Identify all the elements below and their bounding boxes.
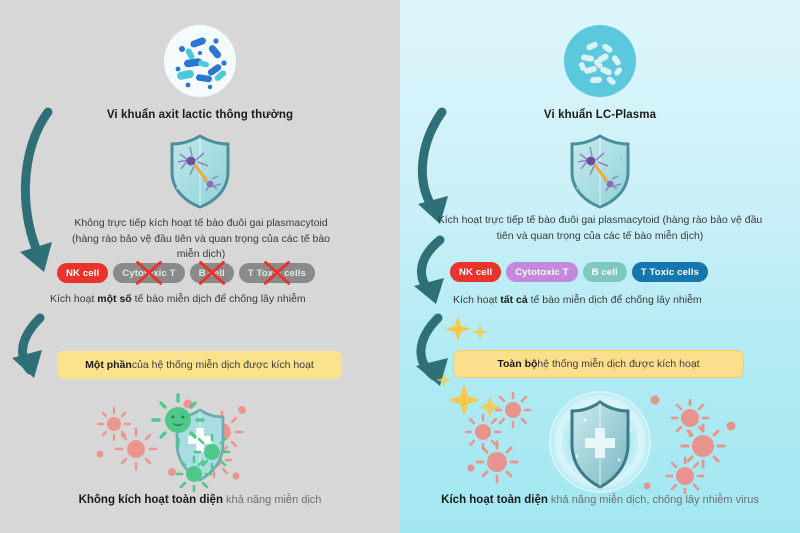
immune-cell-pill-row-left: NK cell Cytotoxic T B cell T Toxic cells [57, 263, 315, 283]
banner-emphasis: Một phần [85, 359, 132, 371]
immune-system-banner-left: Một phần của hệ thống miễn dịch được kíc… [57, 351, 342, 379]
page-title-right: Vi khuẩn LC-Plasma [400, 109, 800, 121]
immune-system-banner-right: Toàn bộ hệ thống miễn dịch được kích hoạ… [453, 350, 744, 378]
pill-t-toxic-cells[interactable]: T Toxic cells [632, 262, 708, 282]
caption-suffix: tế bào miễn dịch để chống lây nhiễm [528, 294, 702, 306]
shield-attacked-by-viruses-icon [70, 392, 330, 492]
activation-caption-left: Kích hoạt một số tế bào miễn dịch để chố… [50, 293, 306, 305]
virus-red [116, 429, 156, 469]
virus-red [682, 425, 724, 467]
virus-red [667, 458, 703, 494]
pill-b-cell[interactable]: B cell [583, 262, 627, 282]
immune-cell-pill-row-right: NK cell Cytotoxic T B cell T Toxic cells [450, 262, 708, 282]
caption-prefix: Kích hoạt [50, 293, 97, 305]
virus-red [98, 408, 130, 440]
shield-protected-glow-icon [435, 390, 765, 494]
shield-dendritic-cell-icon [564, 132, 636, 210]
pill-label: NK cell [459, 267, 492, 278]
footer-caption-right: Kích hoạt toàn diện khả năng miễn dịch, … [400, 494, 800, 506]
pill-label: B cell [592, 267, 618, 278]
bacteria-circle-icon [564, 25, 636, 97]
page-title-left: Vi khuẩn axit lactic thông thường [0, 109, 400, 121]
pill-cytotoxic-t[interactable]: Cytotoxic T [506, 262, 577, 282]
bacteria-circle-icon [164, 25, 236, 97]
description-right: Kích hoạt trực tiếp tế bào đuôi gai plas… [435, 213, 765, 244]
caption-suffix: tế bào miễn dịch để chống lây nhiễm [132, 293, 306, 305]
panel-lc-plasma-bacteria: Vi khuẩn LC-Plasma [400, 0, 800, 533]
infographic-canvas: Vi khuẩn axit lactic thông thường [0, 0, 800, 533]
pill-nk-cell[interactable]: NK cell [57, 263, 108, 283]
pill-cytotoxic-t[interactable]: Cytotoxic T [113, 263, 184, 283]
caption-emphasis: tất cả [500, 294, 527, 306]
pill-label: Cytotoxic T [515, 267, 568, 278]
pill-label: Cytotoxic T [122, 268, 175, 279]
panel-normal-lactic-bacteria: Vi khuẩn axit lactic thông thường [0, 0, 400, 533]
pill-b-cell[interactable]: B cell [190, 263, 234, 283]
pill-t-toxic-cells[interactable]: T Toxic cells [239, 263, 315, 283]
banner-rest: hệ thống miễn dịch được kích hoạt [537, 358, 699, 370]
virus-red [496, 393, 530, 427]
banner-emphasis: Toàn bộ [497, 358, 537, 370]
pill-label: B cell [199, 268, 225, 279]
footer-rest: khả năng miễn dịch [223, 494, 321, 506]
caption-prefix: Kích hoạt [453, 294, 500, 306]
pill-label: NK cell [66, 268, 99, 279]
footer-emphasis: Không kích hoạt toàn diện [79, 494, 223, 506]
description-left: Không trực tiếp kích hoạt tế bào đuôi ga… [60, 216, 342, 263]
pill-nk-cell[interactable]: NK cell [450, 262, 501, 282]
virus-red [477, 442, 517, 482]
footer-rest: khả năng miễn dịch, chống lây nhiễm viru… [548, 494, 759, 506]
pill-label: T Toxic cells [248, 268, 306, 279]
activation-caption-right: Kích hoạt tất cả tế bào miễn dịch để chố… [453, 294, 702, 306]
pill-label: T Toxic cells [641, 267, 699, 278]
caption-emphasis: một số [97, 293, 131, 305]
shield-dendritic-cell-icon [164, 132, 236, 210]
footer-caption-left: Không kích hoạt toàn diện khả năng miễn … [0, 494, 400, 506]
virus-red [466, 415, 500, 449]
banner-rest: của hệ thống miễn dịch được kích hoạt [132, 359, 314, 371]
footer-emphasis: Kích hoạt toàn diện [441, 494, 548, 506]
